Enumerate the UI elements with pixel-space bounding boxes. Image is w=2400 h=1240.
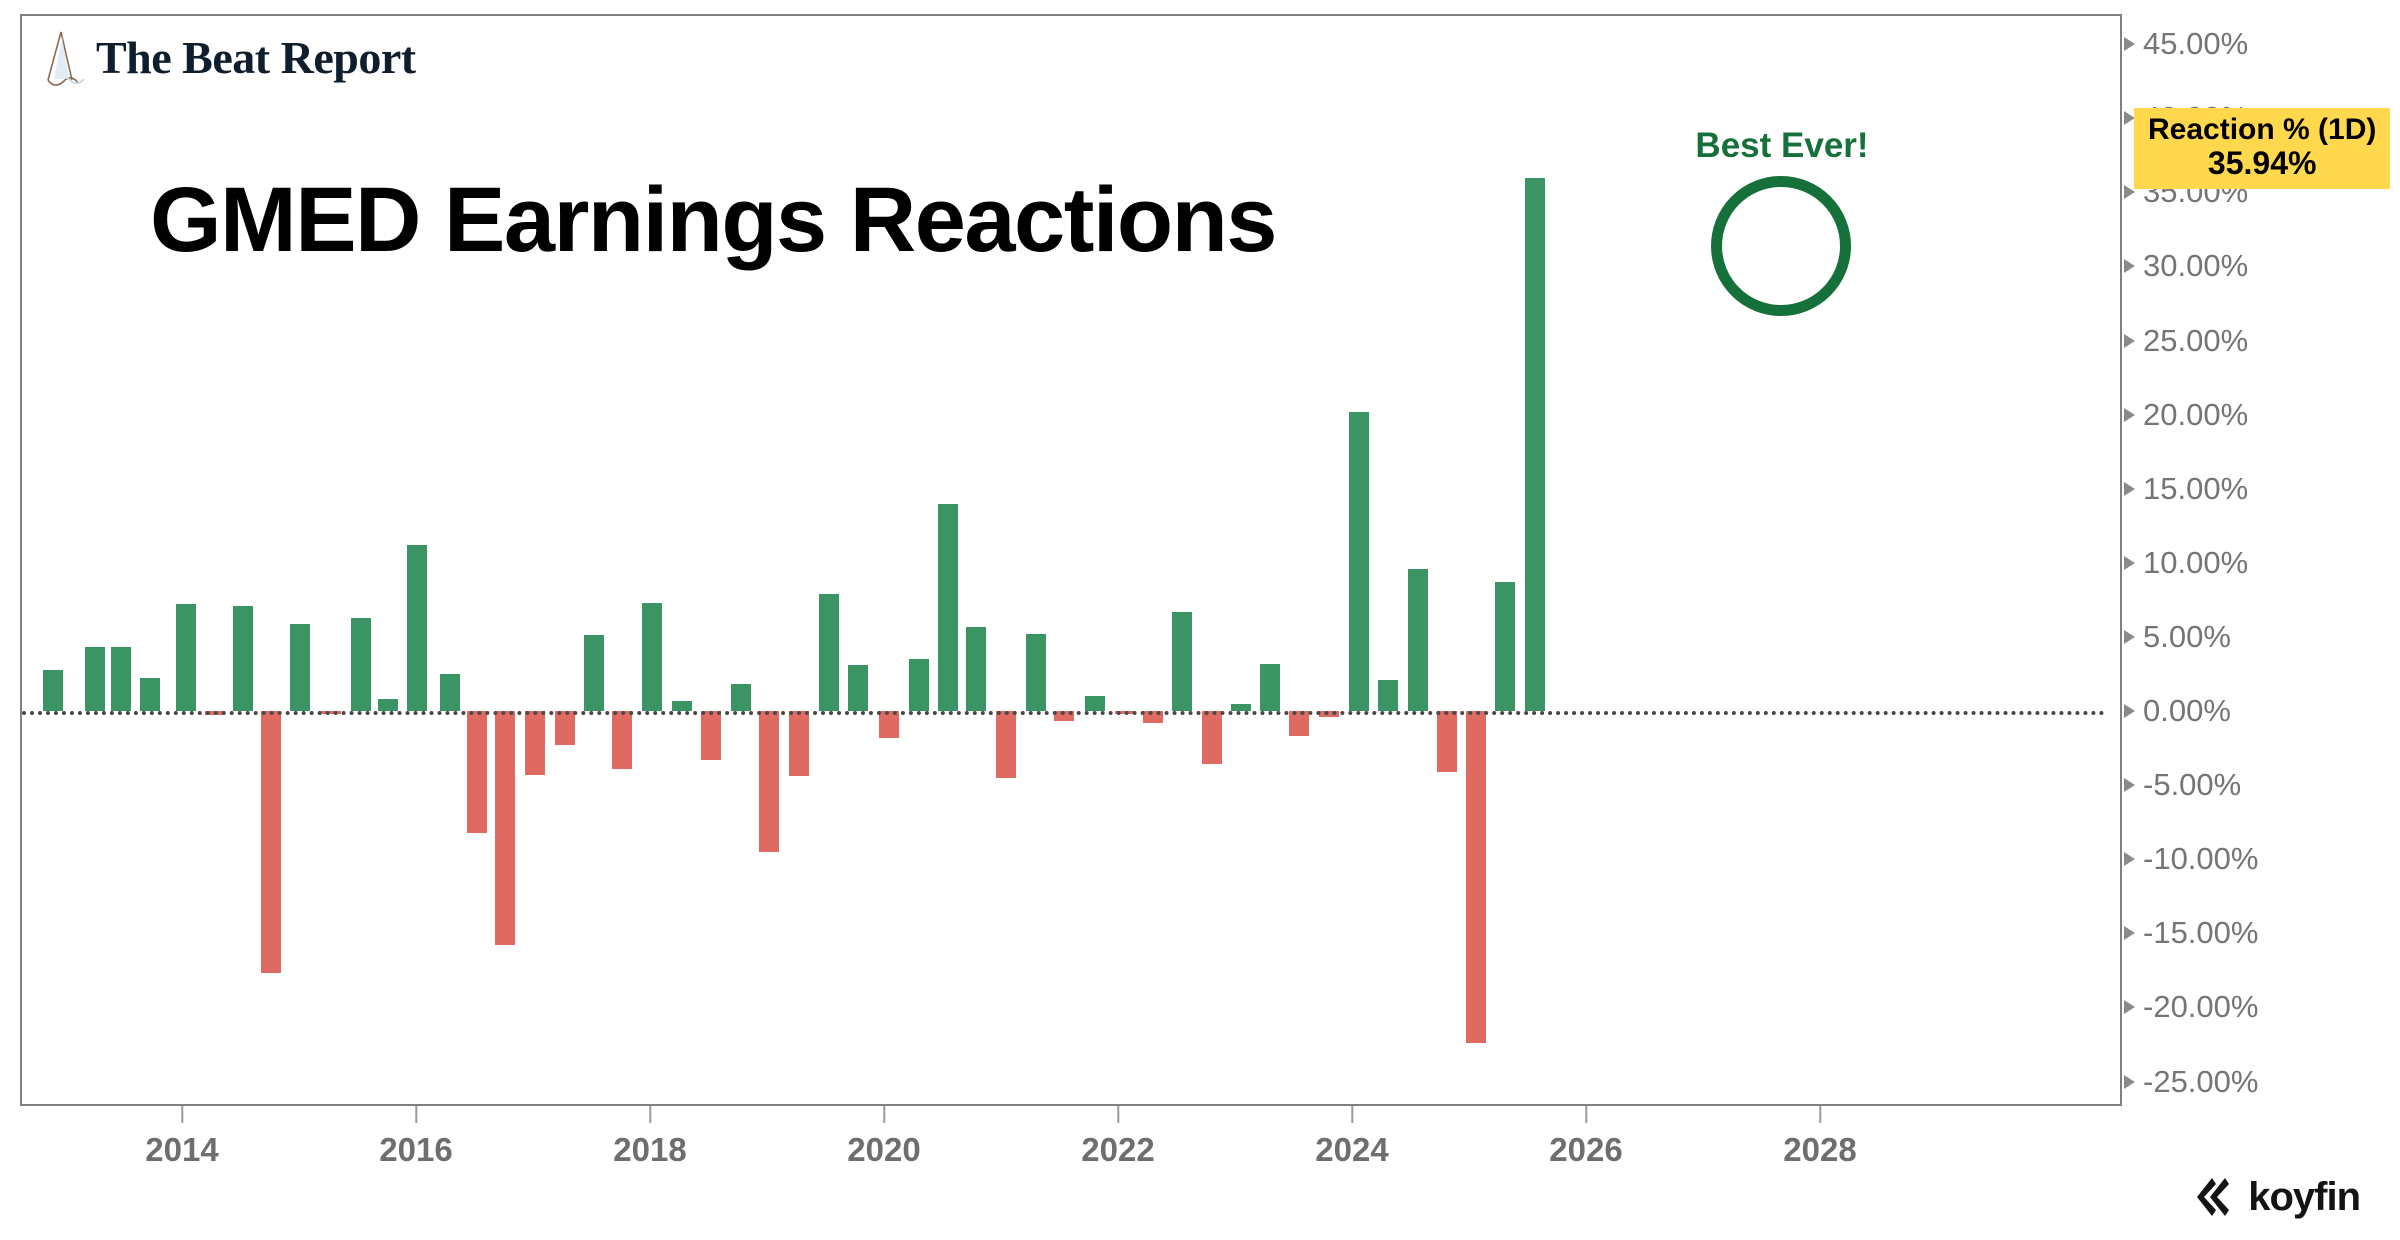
y-axis-tick-label: 5.00%: [2143, 619, 2231, 655]
bar[interactable]: [1260, 664, 1280, 711]
bar[interactable]: [1231, 704, 1251, 711]
bar[interactable]: [848, 665, 868, 711]
x-axis-tick-label: 2028: [1783, 1131, 1856, 1169]
bar[interactable]: [233, 606, 253, 711]
bar[interactable]: [1026, 634, 1046, 711]
x-axis-tick-label: 2026: [1549, 1131, 1622, 1169]
koyfin-chevron-icon: [2192, 1174, 2238, 1220]
bar[interactable]: [759, 711, 779, 852]
tooltip-value: 35.94%: [2148, 146, 2376, 181]
tooltip-label: Reaction % (1D): [2148, 114, 2376, 146]
y-axis-tick: 45.00%: [2124, 32, 2248, 56]
bar[interactable]: [1172, 612, 1192, 711]
bar[interactable]: [584, 635, 604, 711]
tick-arrow-icon: [2124, 408, 2135, 422]
y-axis-tick-label: -10.00%: [2143, 841, 2258, 877]
x-axis-tick: 2024: [1315, 1106, 1388, 1169]
y-axis-tick-label: -15.00%: [2143, 915, 2258, 951]
bar[interactable]: [176, 604, 196, 711]
tick-arrow-icon: [2124, 259, 2135, 273]
y-axis-tick-label: 25.00%: [2143, 323, 2248, 359]
y-axis-tick: -15.00%: [2124, 921, 2258, 945]
y-axis-tick: -10.00%: [2124, 847, 2258, 871]
y-axis-tick: 25.00%: [2124, 329, 2248, 353]
bar[interactable]: [407, 545, 427, 711]
y-axis-tick-label: 20.00%: [2143, 397, 2248, 433]
x-axis-tick: 2020: [847, 1106, 920, 1169]
bar[interactable]: [966, 627, 986, 711]
bar[interactable]: [378, 699, 398, 711]
y-axis-tick: 10.00%: [2124, 551, 2248, 575]
y-axis-tick: 5.00%: [2124, 625, 2231, 649]
y-axis-tick-label: 30.00%: [2143, 248, 2248, 284]
tick-arrow-icon: [2124, 556, 2135, 570]
bar[interactable]: [111, 647, 131, 711]
chart-screenshot: The Beat Report GMED Earnings Reactions …: [0, 0, 2400, 1240]
tick-arrow-icon: [2124, 704, 2135, 718]
bar[interactable]: [1202, 711, 1222, 764]
y-axis-tick: 15.00%: [2124, 477, 2248, 501]
bar[interactable]: [1525, 178, 1545, 711]
koyfin-wordmark: koyfin: [2248, 1175, 2360, 1220]
x-axis-tick-label: 2024: [1315, 1131, 1388, 1169]
bar[interactable]: [1085, 696, 1105, 711]
x-axis-tick: 2026: [1549, 1106, 1622, 1169]
x-axis-tick-label: 2016: [379, 1131, 452, 1169]
bar[interactable]: [351, 618, 371, 711]
tick-mark: [1351, 1106, 1353, 1123]
y-axis-tick-label: 45.00%: [2143, 26, 2248, 62]
bar[interactable]: [938, 504, 958, 711]
x-axis-tick-label: 2022: [1081, 1131, 1154, 1169]
bar[interactable]: [467, 711, 487, 833]
bar[interactable]: [996, 711, 1016, 778]
tick-mark: [1585, 1106, 1587, 1123]
y-axis-tick-label: 15.00%: [2143, 471, 2248, 507]
y-axis-tick-label: -20.00%: [2143, 989, 2258, 1025]
bar[interactable]: [672, 701, 692, 711]
bar-plot-area: [22, 16, 2120, 1104]
x-axis-tick: 2016: [379, 1106, 452, 1169]
bar[interactable]: [909, 659, 929, 711]
bar[interactable]: [85, 647, 105, 711]
bar[interactable]: [495, 711, 515, 945]
bar[interactable]: [1378, 680, 1398, 711]
bar[interactable]: [1408, 569, 1428, 711]
bar[interactable]: [879, 711, 899, 738]
x-axis-tick: 2018: [613, 1106, 686, 1169]
tick-mark: [649, 1106, 651, 1123]
bar[interactable]: [701, 711, 721, 760]
bar[interactable]: [440, 674, 460, 711]
tick-arrow-icon: [2124, 926, 2135, 940]
x-axis-tick: 2028: [1783, 1106, 1856, 1169]
y-axis-tick: 20.00%: [2124, 403, 2248, 427]
bar[interactable]: [525, 711, 545, 775]
bar[interactable]: [1495, 582, 1515, 711]
bar[interactable]: [43, 670, 63, 711]
x-axis-tick: 2022: [1081, 1106, 1154, 1169]
tick-arrow-icon: [2124, 1075, 2135, 1089]
tick-mark: [883, 1106, 885, 1123]
bar[interactable]: [290, 624, 310, 711]
x-axis-tick-label: 2018: [613, 1131, 686, 1169]
bar[interactable]: [819, 594, 839, 711]
bar[interactable]: [1437, 711, 1457, 772]
tick-arrow-icon: [2124, 1000, 2135, 1014]
y-axis-tick-label: -5.00%: [2143, 767, 2241, 803]
circle-highlight-icon: [1711, 176, 1851, 316]
bar[interactable]: [612, 711, 632, 769]
tick-arrow-icon: [2124, 482, 2135, 496]
tick-arrow-icon: [2124, 630, 2135, 644]
x-axis-tick-label: 2014: [145, 1131, 218, 1169]
x-axis-tick: 2014: [145, 1106, 218, 1169]
value-tooltip: Reaction % (1D) 35.94%: [2134, 108, 2390, 189]
bar[interactable]: [555, 711, 575, 745]
y-axis-tick: -5.00%: [2124, 773, 2241, 797]
bar[interactable]: [642, 603, 662, 711]
y-axis-tick-label: 0.00%: [2143, 693, 2231, 729]
tick-mark: [1819, 1106, 1821, 1123]
bar[interactable]: [140, 678, 160, 711]
y-axis-tick-label: -25.00%: [2143, 1064, 2258, 1100]
tick-arrow-icon: [2124, 334, 2135, 348]
bar[interactable]: [261, 711, 281, 973]
tick-mark: [181, 1106, 183, 1123]
y-axis-tick: -25.00%: [2124, 1070, 2258, 1094]
tick-mark: [415, 1106, 417, 1123]
bar[interactable]: [789, 711, 809, 776]
tick-arrow-icon: [2124, 778, 2135, 792]
y-axis-tick: 30.00%: [2124, 254, 2248, 278]
bar[interactable]: [731, 684, 751, 711]
y-axis-tick: 0.00%: [2124, 699, 2231, 723]
koyfin-attribution: koyfin: [2192, 1174, 2360, 1220]
tick-arrow-icon: [2124, 37, 2135, 51]
annotation-label: Best Ever!: [1682, 126, 1882, 166]
tick-mark: [1117, 1106, 1119, 1123]
tick-arrow-icon: [2124, 852, 2135, 866]
bar[interactable]: [1466, 711, 1486, 1043]
y-axis-tick-label: 10.00%: [2143, 545, 2248, 581]
x-axis-tick-label: 2020: [847, 1131, 920, 1169]
zero-baseline: [22, 711, 2106, 715]
y-axis-tick: -20.00%: [2124, 995, 2258, 1019]
bar[interactable]: [1349, 412, 1369, 711]
x-axis: 20142016201820202022202420262028: [0, 1106, 2400, 1196]
